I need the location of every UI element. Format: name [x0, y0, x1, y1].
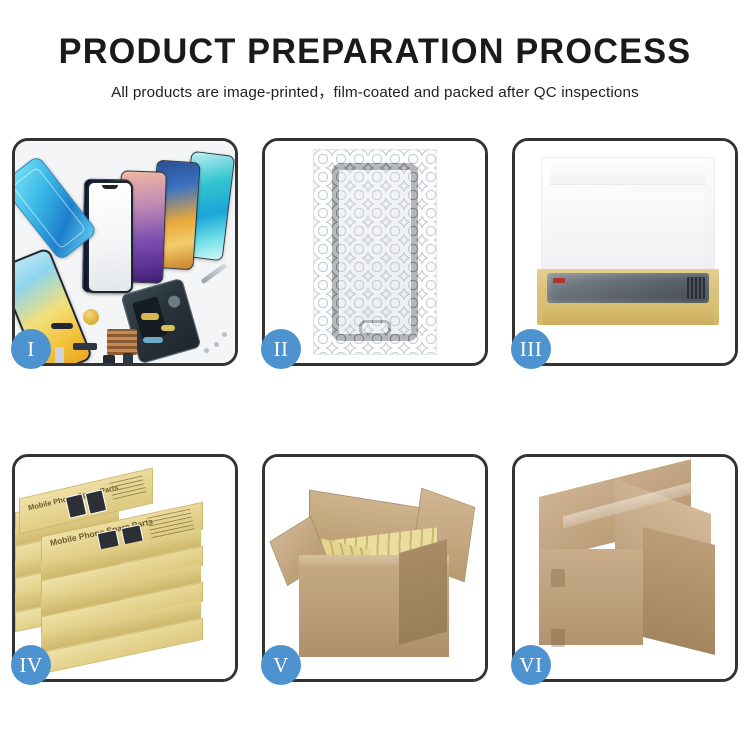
screw-part-icon [214, 342, 219, 347]
foam-padding-icon [549, 193, 705, 277]
speaker-part-icon [83, 309, 99, 325]
step-image-1 [15, 141, 235, 363]
step-image-3 [515, 141, 735, 363]
step-badge-2: II [261, 329, 301, 369]
stacked-boxes-illustration: Mobile Phone Spare Parts Mobile Phone Sp… [15, 457, 235, 679]
step-panel-3: III [512, 138, 738, 366]
carton-side-panel [399, 539, 447, 645]
step-badge-3: III [511, 329, 551, 369]
carton-handle-notch [551, 629, 565, 647]
step-panel-1: I [12, 138, 238, 366]
step-badge-1: I [11, 329, 51, 369]
page-header: PRODUCT PREPARATION PROCESS All products… [0, 0, 750, 102]
wrapped-screen-icon [332, 163, 418, 341]
packed-screen-icon [547, 273, 709, 303]
step-badge-6: VI [511, 645, 551, 685]
phone-parts-illustration [15, 141, 235, 363]
camera-part-icon [103, 355, 115, 363]
step-image-5 [265, 457, 485, 679]
sim-tray-part-icon [55, 347, 64, 363]
page-subtitle: All products are image-printed，film-coat… [0, 80, 750, 102]
open-carton-illustration [265, 457, 485, 679]
tweezers-icon [200, 263, 227, 285]
step-image-4: Mobile Phone Spare Parts Mobile Phone Sp… [15, 457, 235, 679]
bubble-wrap-sheet [314, 150, 436, 354]
screw-part-icon [222, 332, 227, 337]
process-steps-grid: I II III [12, 138, 738, 682]
step-badge-4: IV [11, 645, 51, 685]
step-panel-4: Mobile Phone Spare Parts Mobile Phone Sp… [12, 454, 238, 682]
carton-right-face [643, 527, 715, 655]
step-badge-5: V [261, 645, 301, 685]
step-image-2 [265, 141, 485, 363]
ribbon-part-icon [73, 343, 97, 350]
flex-cable-part-icon [51, 323, 73, 329]
screw-part-icon [204, 348, 209, 353]
antenna-part-icon [143, 337, 163, 343]
sealed-carton-illustration [515, 457, 735, 679]
step-image-6 [515, 457, 735, 679]
phone-white-screen-icon [87, 181, 133, 293]
step-panel-6: VI [512, 454, 738, 682]
connector-part-icon [141, 313, 159, 320]
open-kraft-box-illustration [515, 141, 735, 363]
carton-handle-notch [551, 569, 565, 587]
gold-contact-part-icon [161, 325, 175, 331]
button-part-icon [123, 353, 133, 363]
step-panel-5: V [262, 454, 488, 682]
copper-grid-part-icon [107, 329, 137, 355]
step-panel-2: II [262, 138, 488, 366]
bubble-wrap-illustration [265, 141, 485, 363]
page-title: PRODUCT PREPARATION PROCESS [8, 34, 743, 71]
